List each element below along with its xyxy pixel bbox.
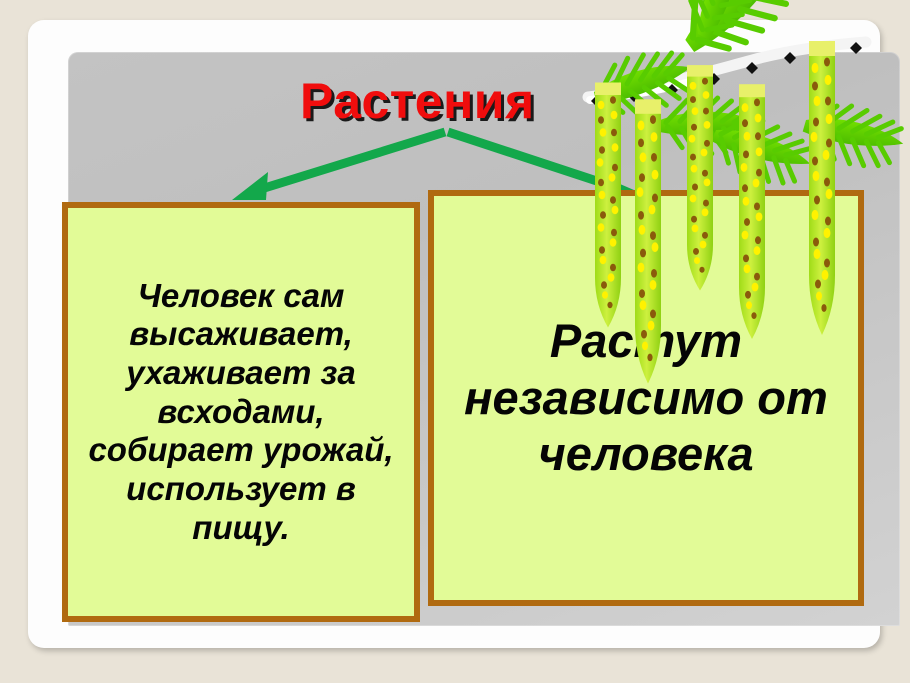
right-box-text: Растут независимо от человека <box>442 313 850 482</box>
left-text-box[interactable]: Человек сам высаживает, ухаживает за всх… <box>62 202 420 622</box>
slide-stage: Растения Человек сам высаживает, ухажива… <box>0 0 910 683</box>
right-text-box[interactable]: Растут независимо от человека <box>428 190 864 606</box>
page-title: Растения <box>300 72 535 130</box>
left-box-text: Человек сам высаживает, ухаживает за всх… <box>78 277 404 547</box>
